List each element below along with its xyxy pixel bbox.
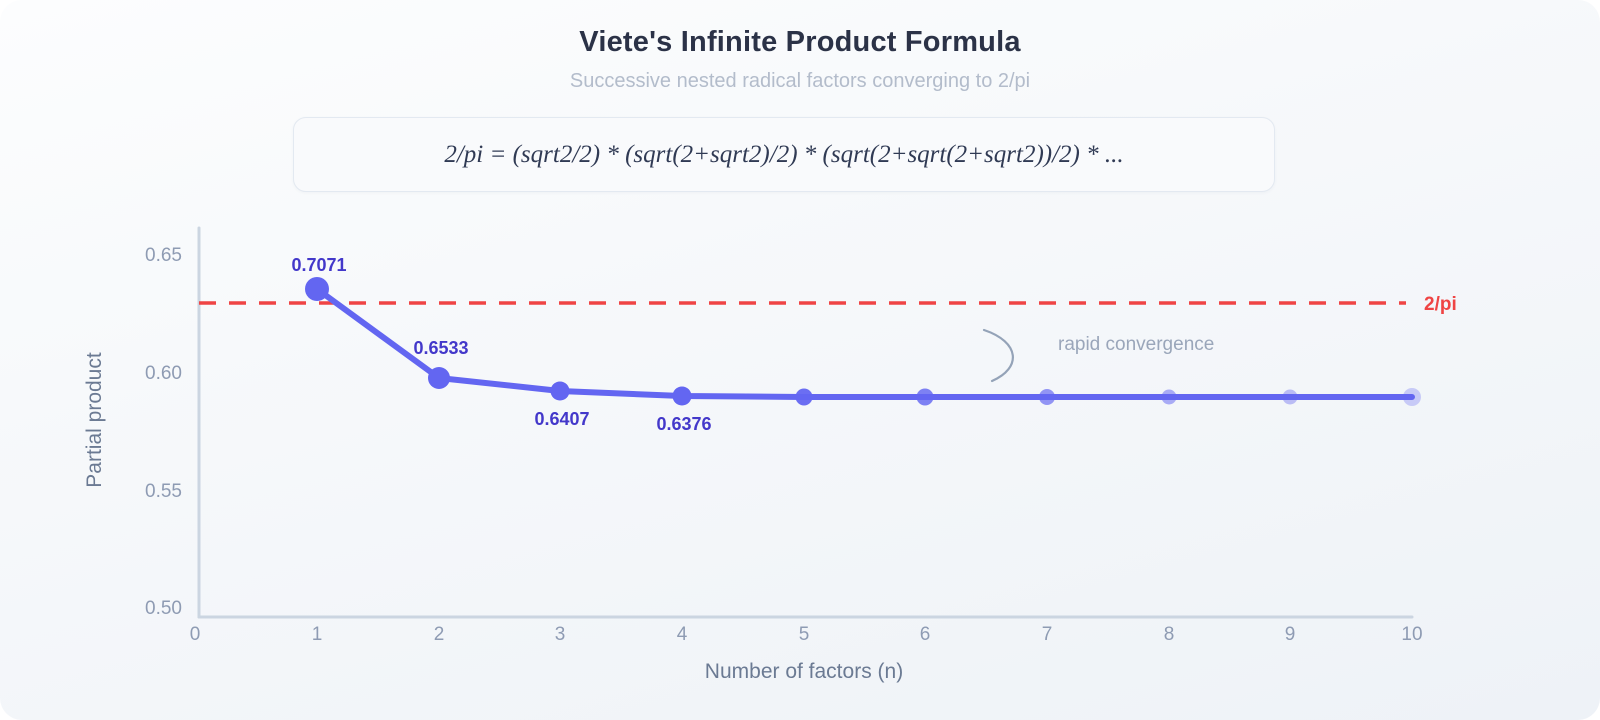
chart-card: Viete's Infinite Product Formula Success… [0, 0, 1600, 720]
data-point[interactable] [551, 382, 570, 401]
data-point[interactable] [796, 389, 813, 406]
data-point-label: 0.6533 [413, 338, 468, 358]
data-point[interactable] [1039, 389, 1055, 405]
x-tick-label: 3 [555, 624, 566, 645]
x-tick-label: 10 [1401, 624, 1422, 645]
data-point[interactable] [305, 277, 329, 301]
x-tick-label: 7 [1042, 624, 1053, 645]
reference-line-label: 2/pi [1424, 294, 1457, 315]
convergence-arc-icon [984, 330, 1013, 381]
x-tick-label: 6 [920, 624, 931, 645]
chart-plot-area: 0.65 0.60 0.55 0.50 0 1 2 3 4 5 6 7 8 9 … [0, 0, 1600, 720]
y-tick-label: 0.55 [145, 481, 182, 502]
x-tick-label: 5 [799, 624, 810, 645]
data-point-label: 0.6376 [656, 414, 711, 434]
y-tick-label: 0.65 [145, 245, 182, 266]
y-tick-label: 0.50 [145, 598, 182, 619]
y-axis-title: Partial product [83, 352, 106, 488]
x-tick-label: 4 [677, 624, 688, 645]
data-point[interactable] [917, 389, 934, 406]
data-point[interactable] [428, 367, 450, 389]
x-tick-label: 9 [1285, 624, 1296, 645]
series-line [317, 289, 1412, 397]
data-point[interactable] [1403, 388, 1421, 406]
data-point[interactable] [1283, 390, 1298, 405]
x-tick-label: 0 [190, 624, 201, 645]
data-point-label: 0.7071 [291, 255, 346, 275]
x-tick-label: 1 [312, 624, 323, 645]
data-point[interactable] [1162, 390, 1177, 405]
y-tick-label: 0.60 [145, 363, 182, 384]
data-point[interactable] [673, 387, 692, 406]
x-axis-title: Number of factors (n) [705, 660, 903, 683]
convergence-annotation-label: rapid convergence [1058, 334, 1214, 355]
x-tick-label: 8 [1164, 624, 1175, 645]
x-tick-label: 2 [434, 624, 445, 645]
data-point-label: 0.6407 [534, 409, 589, 429]
